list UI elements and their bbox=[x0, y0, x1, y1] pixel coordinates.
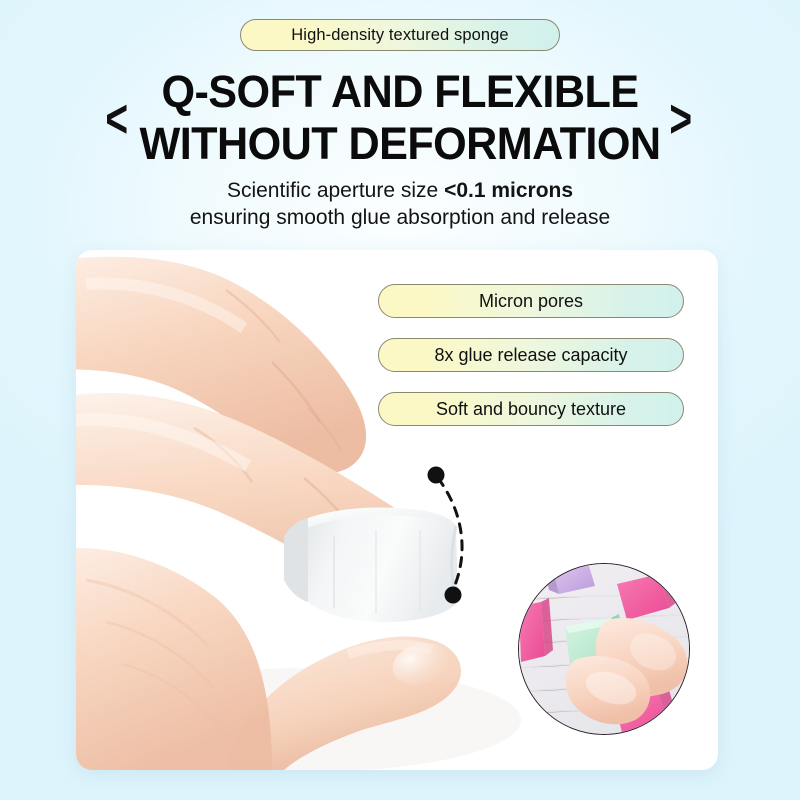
feature-pill-label: 8x glue release capacity bbox=[434, 345, 627, 366]
feature-pill-label: Micron pores bbox=[479, 291, 583, 312]
headline-line-2: WITHOUT DEFORMATION bbox=[16, 118, 784, 170]
headline-line-1: Q-SOFT AND FLEXIBLE bbox=[161, 66, 638, 117]
top-badge: High-density textured sponge bbox=[240, 19, 560, 51]
inset-photo-circle: Fingers holding a mint green sponge amon… bbox=[518, 563, 690, 735]
top-badge-label: High-density textured sponge bbox=[291, 26, 508, 45]
subtitle: Scientific aperture size <0.1 microns en… bbox=[0, 177, 800, 231]
page-title: Q-SOFT AND FLEXIBLE WITHOUT DEFORMATION bbox=[16, 66, 784, 170]
sponge-block bbox=[284, 507, 458, 622]
feature-pill-glue-release: 8x glue release capacity bbox=[378, 338, 684, 372]
feature-pill-label: Soft and bouncy texture bbox=[436, 399, 626, 420]
subtitle-line-1: Scientific aperture size <0.1 microns bbox=[0, 177, 800, 204]
feature-list: Micron pores 8x glue release capacity So… bbox=[378, 284, 684, 426]
infographic-canvas: High-density textured sponge < > Q-SOFT … bbox=[0, 0, 800, 800]
inset-photo-content bbox=[519, 564, 690, 735]
subtitle-line-2: ensuring smooth glue absorption and rele… bbox=[0, 204, 800, 231]
subtitle-emphasis: <0.1 microns bbox=[444, 179, 573, 202]
feature-pill-bouncy-texture: Soft and bouncy texture bbox=[378, 392, 684, 426]
subtitle-prefix: Scientific aperture size bbox=[227, 179, 444, 202]
feature-pill-micron-pores: Micron pores bbox=[378, 284, 684, 318]
